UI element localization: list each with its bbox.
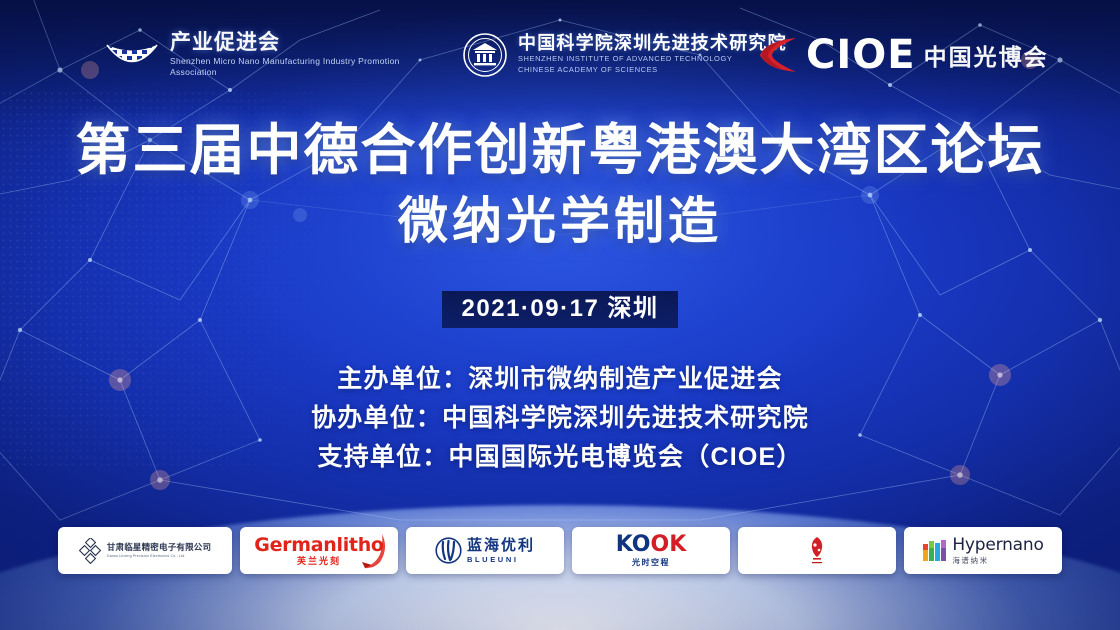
blue-wave-circle-icon [435,537,462,564]
checkered-globe-icon [104,36,160,74]
sponsor-logo-strip: 甘肃临星精密电子有限公司 Gansu Linxing Precision Ele… [58,527,1062,574]
header-logo-bar: 产业促进会 Shenzhen Micro Nano Manufacturing … [0,0,1120,108]
organizer-list: 主办单位：深圳市微纳制造产业促进会 协办单位：中国科学院深圳先进技术研究院 支持… [0,360,1120,477]
organizer-coorganizer: 协办单位：中国科学院深圳先进技术研究院 [0,399,1120,438]
logo-smi-cn: 产业促进会 [170,32,400,54]
logo-siat-en2: CHINESE ACADEMY OF SCIENCES [518,65,787,76]
swoosh-icon [356,532,390,570]
cioe-arrow-icon [752,35,800,75]
sponsor-card-1[interactable]: 甘肃临星精密电子有限公司 Gansu Linxing Precision Ele… [58,527,232,574]
sponsor-1-en: Gansu Linxing Precision Electronics Co.,… [107,554,211,559]
poster-subtitle: 微纳光学制造 [0,191,1120,251]
sponsor-2-cn: 芙兰光刻 [297,557,341,566]
red-seal-icon [807,536,827,566]
conference-poster: 产业促进会 Shenzhen Micro Nano Manufacturing … [0,0,1120,630]
organizer-host: 主办单位：深圳市微纳制造产业促进会 [0,360,1120,399]
sponsor-card-2[interactable]: Germanlitho 芙兰光刻 [240,527,398,574]
organizer-supporter: 支持单位：中国国际光电博览会（CIOE） [0,438,1120,477]
sponsor-card-5[interactable] [738,527,896,574]
logo-smi-association: 产业促进会 Shenzhen Micro Nano Manufacturing … [104,28,400,82]
poster-main-title: 第三届中德合作创新粤港澳大湾区论坛 [0,118,1120,183]
sponsor-3-en: BLUEUNI [467,556,535,564]
sponsor-6-cn: 海谱纳米 [952,557,1043,565]
logo-siat-en1: SHENZHEN INSTITUTE OF ADVANCED TECHNOLOG… [518,54,787,65]
title-block: 第三届中德合作创新粤港澳大湾区论坛 微纳光学制造 [0,118,1120,251]
sponsor-card-4[interactable]: KOOK 光时空程 [572,527,730,574]
color-blocks-icon [922,538,948,564]
sponsor-1-cn: 甘肃临星精密电子有限公司 [107,542,211,552]
date-row: 2021·09·17 深圳 [0,291,1120,328]
diamond-lattice-icon [79,538,101,564]
cas-emblem-icon [462,32,508,78]
sponsor-card-6[interactable]: Hypernano 海谱纳米 [904,527,1062,574]
sponsor-3-cn: 蓝海优利 [467,538,535,553]
date-location-badge: 2021·09·17 深圳 [442,291,679,328]
logo-cioe-word: CIOE [806,35,916,75]
logo-siat-cas: 中国科学院深圳先进技术研究院 SHENZHEN INSTITUTE OF ADV… [462,28,787,82]
sponsor-4-cn: 光时空程 [632,559,670,567]
logo-siat-cn: 中国科学院深圳先进技术研究院 [518,34,787,54]
logo-cioe: CIOE 中国光博会 [752,28,1049,82]
sponsor-card-3[interactable]: 蓝海优利 BLUEUNI [406,527,564,574]
sponsor-4-name: KOOK [616,534,687,556]
logo-smi-en: Shenzhen Micro Nano Manufacturing Indust… [170,56,400,77]
sponsor-6-name: Hypernano [952,537,1043,554]
logo-cioe-cn: 中国光博会 [924,38,1049,72]
